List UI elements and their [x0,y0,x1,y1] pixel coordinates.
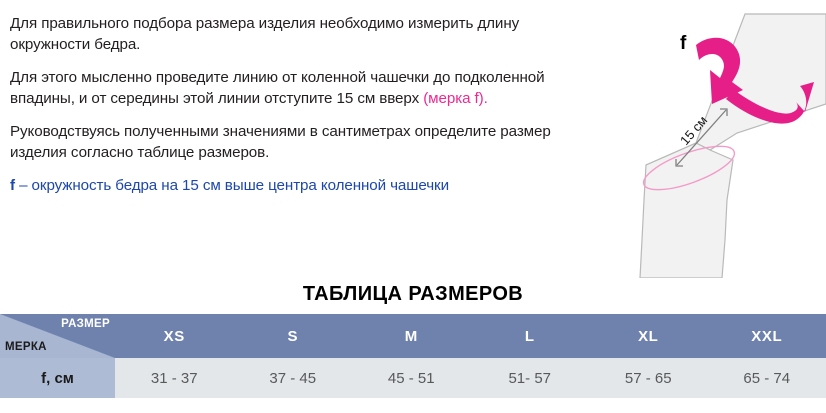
corner-size-label: РАЗМЕР [61,318,110,330]
cell-f-m: 45 - 51 [352,358,471,398]
table-header-xl: XL [589,314,708,358]
table-header-xs: XS [115,314,234,358]
row-label-f-cm: f, см [0,358,115,398]
size-table: РАЗМЕР МЕРКА XS S M L XL XXL f, см 31 - … [0,314,826,398]
table-row: f, см 31 - 37 37 - 45 45 - 51 51- 57 57 … [0,358,826,398]
instructions-block: Для правильного подбора размера изделия … [10,14,570,196]
measure-f-accent: (мерка f). [423,90,488,107]
cell-f-xl: 57 - 65 [589,358,708,398]
table-header-s: S [234,314,353,358]
cell-f-s: 37 - 45 [234,358,353,398]
cell-f-l: 51- 57 [471,358,590,398]
f-label: f [680,33,686,55]
lower-leg-shape [640,143,733,278]
table-header-m: M [352,314,471,358]
table-header-row: РАЗМЕР МЕРКА XS S M L XL XXL [0,314,826,358]
legend-text: – окружность бедра на 15 см выше центра … [15,177,449,194]
size-table-title: ТАБЛИЦА РАЗМЕРОВ [0,283,826,306]
instruction-paragraph-3: Руководствуясь полученными значениями в … [10,122,570,163]
cell-f-xxl: 65 - 74 [708,358,826,398]
instruction-paragraph-2: Для этого мысленно проведите линию от ко… [10,68,570,109]
corner-measure-label: МЕРКА [5,341,47,353]
table-corner-cell: РАЗМЕР МЕРКА [0,314,115,358]
table-header-l: L [471,314,590,358]
leg-measurement-illustration: 15 см f [600,0,826,278]
instruction-paragraph-1: Для правильного подбора размера изделия … [10,14,570,55]
legend-line: f – окружность бедра на 15 см выше центр… [10,176,570,196]
table-header-xxl: XXL [708,314,826,358]
cell-f-xs: 31 - 37 [115,358,234,398]
